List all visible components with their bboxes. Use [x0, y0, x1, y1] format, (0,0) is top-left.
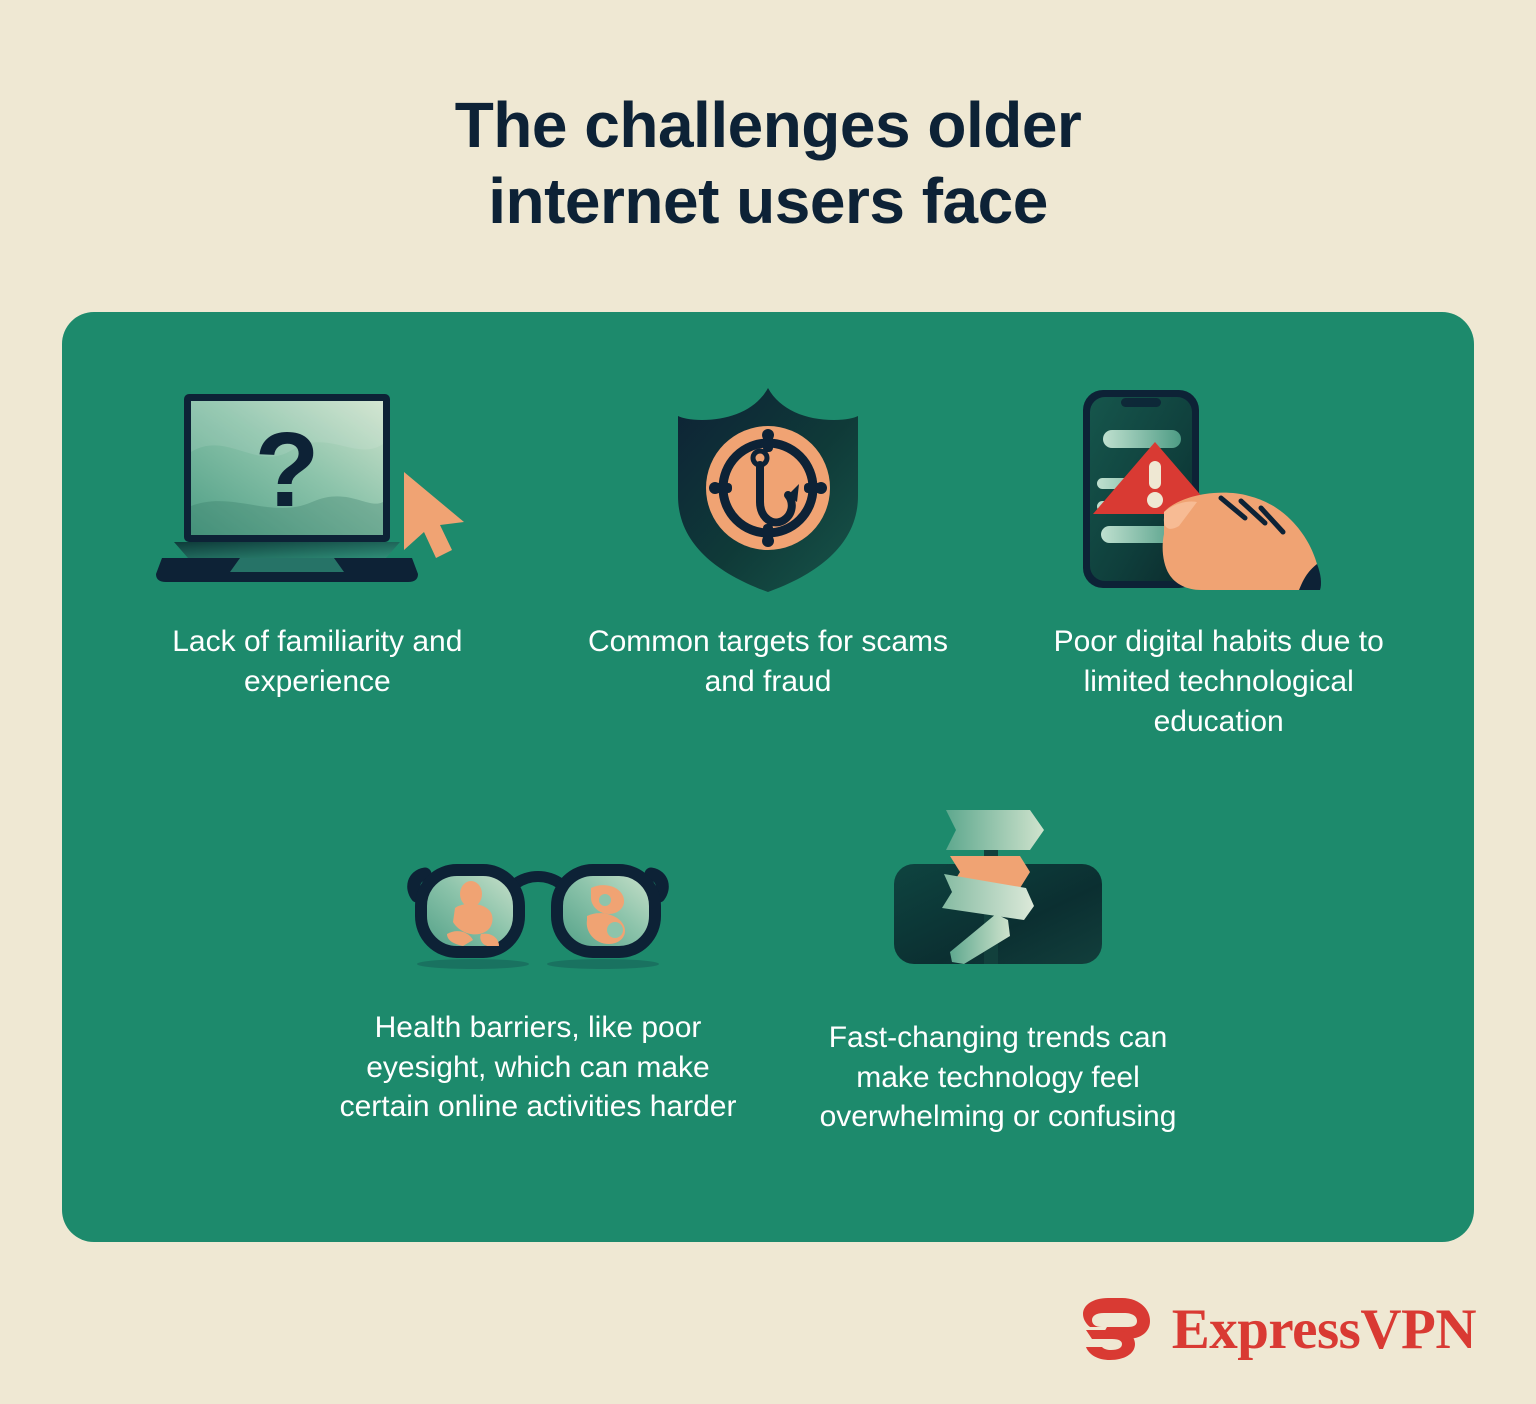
shield-phishing-hook-icon: [660, 384, 876, 596]
phone-warning-hand-icon: [1069, 384, 1369, 596]
challenge-item-2: Common targets for scams and fraud: [543, 384, 994, 742]
signpost-icon-wrap: [878, 802, 1118, 992]
challenge-caption-1: Lack of familiarity and experience: [117, 622, 517, 702]
challenge-item-3: Poor digital habits due to limited techn…: [993, 384, 1444, 742]
page-title-line-1: The challenges older: [200, 88, 1336, 164]
signpost-arm: [946, 810, 1044, 850]
challenges-row-top: ? Lack of familiarity and experience: [62, 312, 1474, 742]
challenge-caption-4: Health barriers, like poor eyesight, whi…: [338, 1008, 738, 1128]
phone-icon-wrap: [1069, 384, 1369, 596]
glasses-icon-wrap: [403, 802, 673, 982]
expressvpn-brand-name: ExpressVPN: [1172, 1301, 1476, 1358]
shield-icon-wrap: [660, 384, 876, 596]
cursor-arrow-icon: [404, 472, 464, 558]
challenge-caption-5: Fast-changing trends can make technology…: [798, 1018, 1198, 1138]
eyeglasses-blurry-vision-icon: [403, 852, 673, 982]
challenges-card: ? Lack of familiarity and experience: [62, 312, 1474, 1242]
challenge-item-4: Health barriers, like poor eyesight, whi…: [308, 802, 768, 1138]
expressvpn-e-logo-icon: [1082, 1296, 1154, 1362]
challenge-caption-3: Poor digital habits due to limited techn…: [1015, 622, 1422, 742]
challenge-item-1: ? Lack of familiarity and experience: [92, 384, 543, 742]
challenge-item-5: Fast-changing trends can make technology…: [768, 802, 1228, 1138]
page-title-line-2: internet users face: [200, 164, 1336, 240]
question-mark-glyph: ?: [255, 411, 320, 529]
challenges-row-bottom: Health barriers, like poor eyesight, whi…: [62, 742, 1474, 1138]
laptop-icon-wrap: ?: [152, 384, 482, 596]
pointing-hand-icon: [1162, 493, 1320, 590]
laptop-question-cursor-icon: ?: [152, 384, 482, 596]
page-title: The challenges older internet users face: [0, 0, 1536, 239]
phone-content-bar: [1103, 430, 1181, 448]
signpost-directions-icon: [878, 802, 1118, 992]
expressvpn-logo: ExpressVPN: [1082, 1296, 1476, 1362]
challenge-caption-2: Common targets for scams and fraud: [568, 622, 968, 702]
